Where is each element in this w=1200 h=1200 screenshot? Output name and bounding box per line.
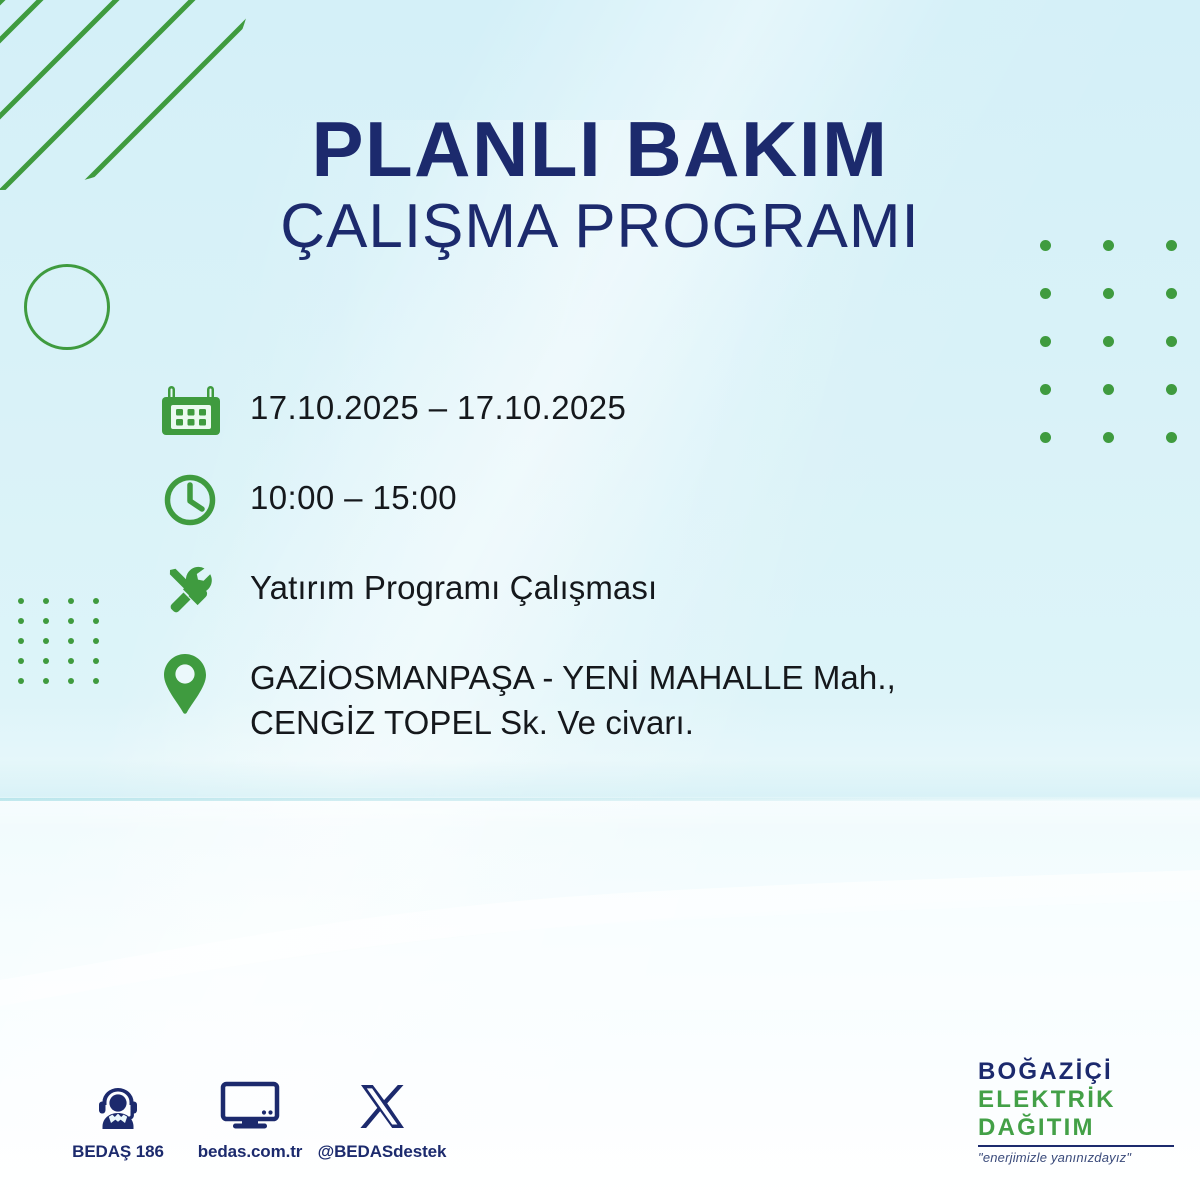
- dot-grid-left-decoration: [18, 598, 103, 683]
- title-subtitle: ÇALIŞMA PROGRAMI: [0, 194, 1200, 260]
- contact-x-account[interactable]: @BEDASdestek: [316, 1072, 448, 1162]
- contact-x-label: @BEDASdestek: [318, 1142, 447, 1162]
- water-curve-decoration: [0, 830, 1200, 1010]
- location-line-2: CENGİZ TOPEL Sk. Ve civarı.: [250, 704, 694, 741]
- brand-divider: [978, 1145, 1174, 1147]
- x-logo-icon: [357, 1072, 407, 1132]
- tools-icon: [162, 558, 226, 622]
- brand-line-3: DAĞITIM: [978, 1114, 1188, 1142]
- detail-row-work-type: Yatırım Programı Çalışması: [162, 558, 1062, 622]
- brand-tagline: "enerjimizle yanınızdayız": [978, 1150, 1188, 1165]
- monitor-icon: [220, 1072, 280, 1132]
- clock-icon: [162, 468, 226, 532]
- detail-location-value: GAZİOSMANPAŞA - YENİ MAHALLE Mah.,CENGİZ…: [226, 648, 896, 745]
- contact-phone-label: BEDAŞ 186: [72, 1142, 164, 1162]
- horizon-glow: [0, 760, 1200, 830]
- title-main: PLANLI BAKIM: [0, 108, 1200, 190]
- contact-website-label: bedas.com.tr: [198, 1142, 303, 1162]
- headset-operator-icon: [92, 1072, 144, 1132]
- maintenance-details: 17.10.2025 – 17.10.2025 10:00 – 15:00: [162, 378, 1062, 745]
- detail-row-time: 10:00 – 15:00: [162, 468, 1062, 532]
- location-line-1: GAZİOSMANPAŞA - YENİ MAHALLE Mah.,: [250, 659, 896, 696]
- detail-work-type-value: Yatırım Programı Çalışması: [226, 558, 657, 610]
- map-pin-icon: [162, 648, 226, 716]
- contact-phone[interactable]: BEDAŞ 186: [52, 1072, 184, 1162]
- detail-row-location: GAZİOSMANPAŞA - YENİ MAHALLE Mah.,CENGİZ…: [162, 648, 1062, 745]
- circle-outline-decoration: [24, 264, 110, 350]
- detail-date-value: 17.10.2025 – 17.10.2025: [226, 378, 626, 430]
- planned-maintenance-poster: PLANLI BAKIM ÇALIŞMA PROGRAMI: [0, 0, 1200, 1200]
- contact-channels: BEDAŞ 186 bedas.com.tr @BEDASdestek: [52, 1072, 448, 1162]
- detail-time-value: 10:00 – 15:00: [226, 468, 457, 520]
- brand-line-2: ELEKTRİK: [978, 1086, 1188, 1114]
- brand-logo: BOĞAZİÇİ ELEKTRİK DAĞITIM "enerjimizle y…: [978, 1058, 1188, 1165]
- calendar-icon: [162, 378, 226, 442]
- horizon-line: [0, 798, 1200, 801]
- page-title: PLANLI BAKIM ÇALIŞMA PROGRAMI: [0, 108, 1200, 260]
- brand-line-1: BOĞAZİÇİ: [978, 1058, 1188, 1086]
- contact-website[interactable]: bedas.com.tr: [184, 1072, 316, 1162]
- detail-row-date: 17.10.2025 – 17.10.2025: [162, 378, 1062, 442]
